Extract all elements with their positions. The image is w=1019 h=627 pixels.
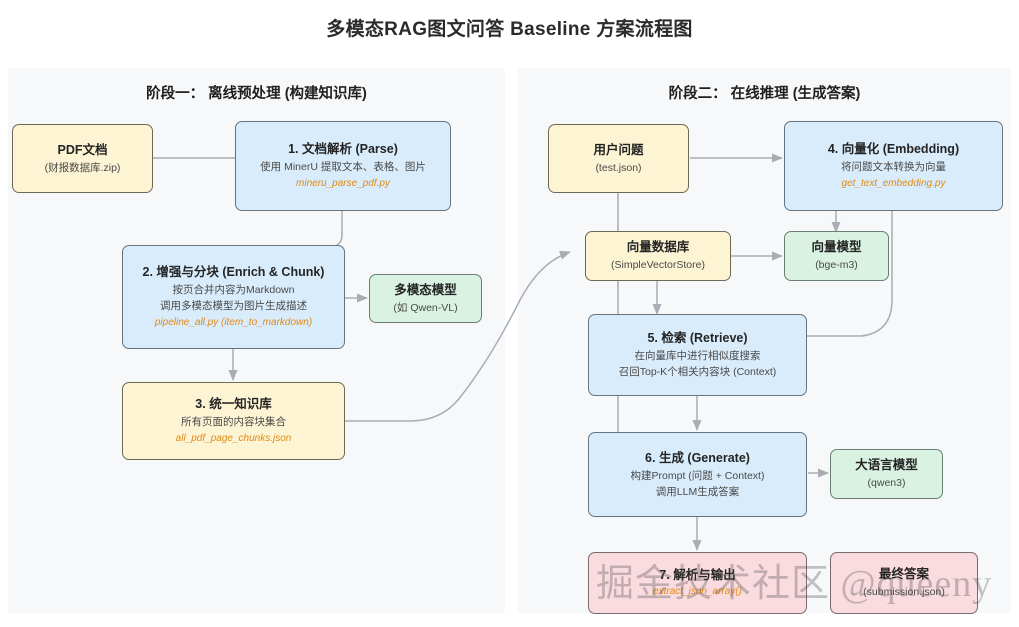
node-subtitle: 在向量库中进行相似度搜索 — [635, 348, 761, 364]
node-generate[interactable]: 6. 生成 (Generate) 构建Prompt (问题 + Context)… — [588, 432, 807, 517]
node-subtitle-2: 调用LLM生成答案 — [656, 484, 739, 500]
node-vector-model[interactable]: 向量模型 (bge-m3) — [784, 231, 889, 281]
node-subtitle: 按页合并内容为Markdown — [173, 282, 295, 298]
node-code: all_pdf_page_chunks.json — [176, 431, 292, 447]
node-retrieve[interactable]: 5. 检索 (Retrieve) 在向量库中进行相似度搜索 召回Top-K个相关… — [588, 314, 807, 396]
node-title: PDF文档 — [57, 141, 107, 160]
node-knowledge-base[interactable]: 3. 统一知识库 所有页面的内容块集合 all_pdf_page_chunks.… — [122, 382, 345, 460]
node-title: 最终答案 — [879, 565, 929, 584]
node-multimodal-model[interactable]: 多模态模型 (如 Qwen-VL) — [369, 274, 482, 323]
node-subtitle: 将问题文本转换为向量 — [841, 159, 946, 175]
node-parse[interactable]: 1. 文档解析 (Parse) 使用 MinerU 提取文本、表格、图片 min… — [235, 121, 451, 211]
node-enrich-chunk[interactable]: 2. 增强与分块 (Enrich & Chunk) 按页合并内容为Markdow… — [122, 245, 345, 349]
node-title: 向量模型 — [811, 238, 861, 257]
node-subtitle: (如 Qwen-VL) — [393, 300, 457, 316]
node-subtitle: (qwen3) — [868, 475, 906, 491]
node-code: get_text_embedding.py — [842, 176, 946, 192]
node-embedding[interactable]: 4. 向量化 (Embedding) 将问题文本转换为向量 get_text_e… — [784, 121, 1003, 211]
node-title: 3. 统一知识库 — [195, 395, 271, 414]
node-pdf-doc[interactable]: PDF文档 (财报数据库.zip) — [12, 124, 153, 193]
node-title: 1. 文档解析 (Parse) — [288, 140, 398, 159]
node-subtitle-2: 召回Top-K个相关内容块 (Context) — [619, 364, 777, 380]
node-code: extract_json_array() — [653, 584, 742, 600]
node-subtitle: 所有页面的内容块集合 — [181, 414, 286, 430]
node-title: 多模态模型 — [394, 281, 457, 300]
node-subtitle: (财报数据库.zip) — [45, 160, 121, 176]
node-vector-database[interactable]: 向量数据库 (SimpleVectorStore) — [585, 231, 731, 281]
node-title: 6. 生成 (Generate) — [645, 449, 750, 468]
node-title: 2. 增强与分块 (Enrich & Chunk) — [143, 263, 325, 282]
node-subtitle: (test.json) — [595, 160, 641, 176]
node-parse-output[interactable]: 7. 解析与输出 extract_json_array() — [588, 552, 807, 614]
node-code: pipeline_all.py (item_to_markdown) — [155, 315, 312, 331]
node-user-question[interactable]: 用户问题 (test.json) — [548, 124, 689, 193]
node-title: 向量数据库 — [627, 238, 690, 257]
node-llm[interactable]: 大语言模型 (qwen3) — [830, 449, 943, 499]
node-title: 4. 向量化 (Embedding) — [828, 140, 959, 159]
flowchart-root: 多模态RAG图文问答 Baseline 方案流程图 阶段一： 离线预处理 (构建… — [0, 0, 1019, 627]
node-subtitle: (submission.json) — [863, 584, 945, 600]
node-subtitle-2: 调用多模态模型为图片生成描述 — [160, 298, 307, 314]
node-title: 大语言模型 — [855, 456, 918, 475]
node-title: 7. 解析与输出 — [659, 566, 735, 585]
node-subtitle: 使用 MinerU 提取文本、表格、图片 — [260, 159, 426, 175]
node-title: 用户问题 — [593, 141, 643, 160]
node-final-answer[interactable]: 最终答案 (submission.json) — [830, 552, 978, 614]
node-title: 5. 检索 (Retrieve) — [647, 329, 747, 348]
node-subtitle: 构建Prompt (问题 + Context) — [631, 468, 765, 484]
node-code: mineru_parse_pdf.py — [296, 176, 390, 192]
node-subtitle: (SimpleVectorStore) — [611, 257, 705, 273]
node-subtitle: (bge-m3) — [815, 257, 858, 273]
